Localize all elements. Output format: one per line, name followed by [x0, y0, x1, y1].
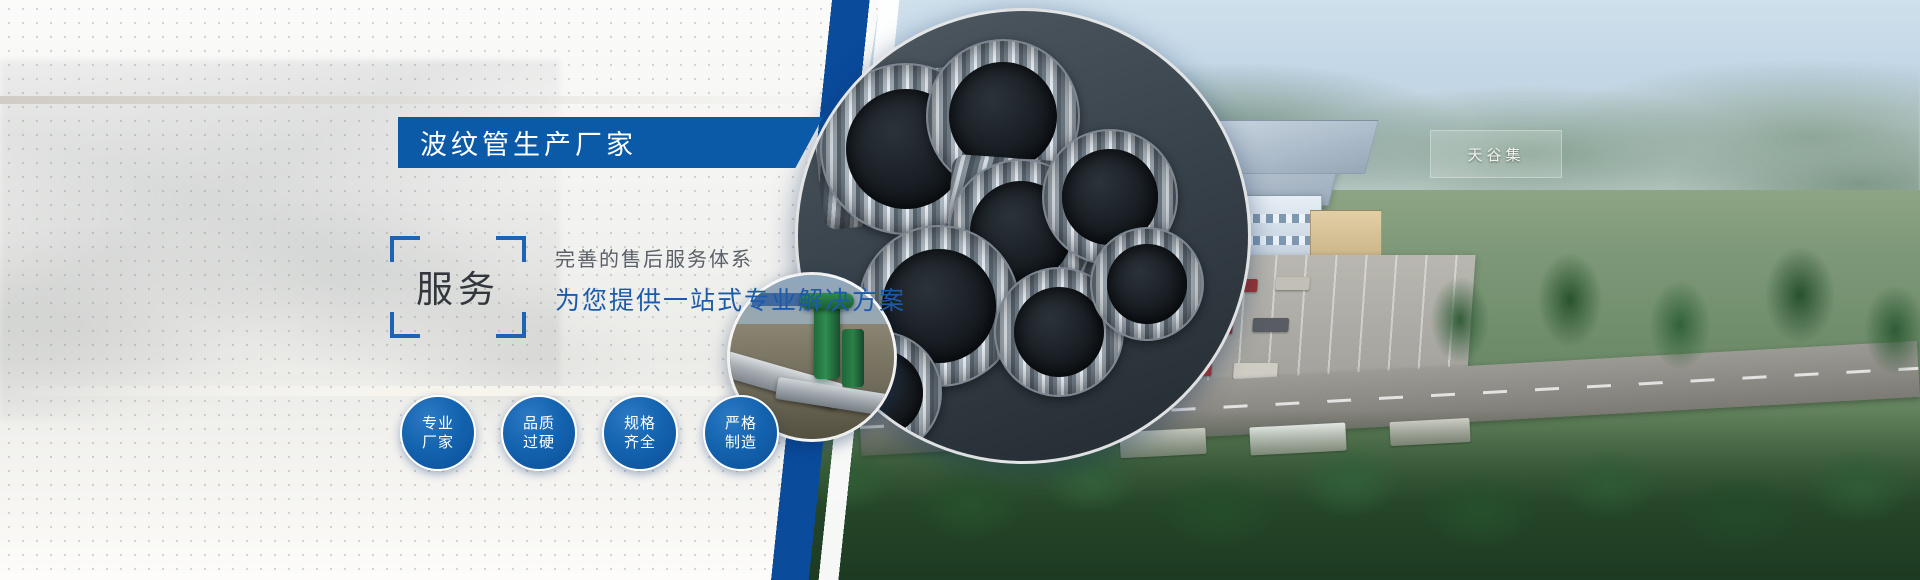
service-tagline-secondary: 为您提供一站式专业解决方案	[555, 281, 906, 317]
badge-line-bottom: 齐全	[624, 433, 656, 452]
page-title: 波纹管生产厂家	[398, 123, 637, 162]
badge-line-top: 专业	[422, 414, 454, 433]
service-tagline-primary: 完善的售后服务体系	[555, 243, 906, 272]
badge-line-bottom: 厂家	[422, 433, 454, 452]
service-keyword: 服务	[398, 250, 518, 322]
feature-badge-list: 专业 厂家 品质 过硬 规格 齐全 严格 制造	[400, 395, 779, 471]
service-tagline-group: 完善的售后服务体系 为您提供一站式专业解决方案	[555, 243, 906, 317]
feature-badge-quality[interactable]: 品质 过硬	[501, 395, 577, 471]
feature-badge-specifications[interactable]: 规格 齐全	[602, 395, 678, 471]
badge-line-top: 规格	[624, 414, 656, 433]
valve-body-second	[842, 329, 864, 387]
photo-watermark: 天谷集	[1430, 130, 1562, 178]
badge-line-bottom: 过硬	[523, 433, 555, 452]
service-keyword-block: 服务	[398, 250, 518, 322]
feature-badge-professional-manufacturer[interactable]: 专业 厂家	[400, 395, 476, 471]
badge-line-bottom: 制造	[725, 433, 757, 452]
banner-title-bar: 波纹管生产厂家	[398, 117, 823, 168]
badge-line-top: 严格	[725, 414, 757, 433]
hero-banner: 天谷集 波纹管生产厂家 服务	[0, 0, 1920, 580]
feature-badge-strict-manufacturing[interactable]: 严格 制造	[703, 395, 779, 471]
roadside-tree-row	[1400, 200, 1920, 420]
badge-line-top: 品质	[523, 414, 555, 433]
